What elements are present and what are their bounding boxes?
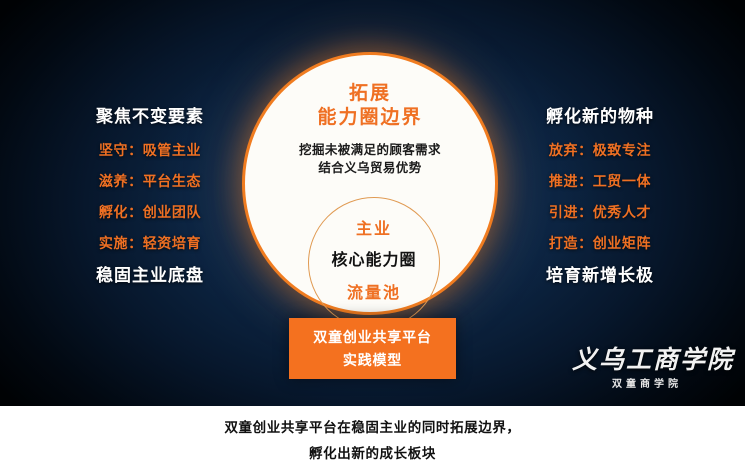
outer-ellipse-title-line2: 能力圈边界 (245, 106, 495, 130)
left-column-item-4: 实施：轻资培育 (50, 236, 250, 250)
model-label-line1: 双童创业共享平台 (313, 330, 431, 344)
left-column-item-1: 坚守：吸管主业 (50, 143, 250, 157)
outer-ellipse-subtitle: 挖掘未被满足的顾客需求 结合义乌贸易优势 (245, 142, 495, 178)
inner-ellipse-line3: 流量池 (291, 286, 457, 302)
outer-ellipse-title-line1: 拓展 (245, 82, 495, 106)
left-column-heading: 聚焦不变要素 (50, 108, 250, 125)
inner-ellipse-line2: 核心能力圈 (291, 253, 457, 269)
inner-core-ellipse: 主业 核心能力圈 流量池 (308, 197, 440, 329)
model-label-line2: 实践模型 (343, 353, 402, 367)
right-text-column: 孵化新的物种 放弃：极致专注 推进：工贸一体 引进：优秀人才 打造：创业矩阵 培… (500, 108, 700, 284)
figure-caption-line2: 孵化出新的成长板块 (309, 447, 436, 461)
figure-caption: 双童创业共享平台在稳固主业的同时拓展边界， 孵化出新的成长板块 (0, 406, 745, 475)
left-text-column: 聚焦不变要素 坚守：吸管主业 滋养：平台生态 孵化：创业团队 实施：轻资培育 稳… (50, 108, 250, 284)
outer-ellipse-sub-line2: 结合义乌贸易优势 (245, 160, 495, 178)
model-label-box: 双童创业共享平台 实践模型 (289, 318, 456, 379)
left-column-item-3: 孵化：创业团队 (50, 205, 250, 219)
left-column-item-2: 滋养：平台生态 (50, 174, 250, 188)
logo-wordmark: 义乌工商学院 (572, 348, 722, 373)
diagram-artwork-panel: 聚焦不变要素 坚守：吸管主业 滋养：平台生态 孵化：创业团队 实施：轻资培育 稳… (0, 0, 745, 406)
logo-subtitle: 双童商学院 (572, 380, 722, 390)
right-column-footer: 培育新增长极 (500, 267, 700, 284)
outer-ellipse-sub-line1: 挖掘未被满足的顾客需求 (245, 142, 495, 160)
right-column-item-1: 放弃：极致专注 (500, 143, 700, 157)
right-column-item-2: 推进：工贸一体 (500, 174, 700, 188)
right-column-heading: 孵化新的物种 (500, 108, 700, 125)
right-column-item-4: 打造：创业矩阵 (500, 236, 700, 250)
left-column-footer: 稳固主业底盘 (50, 267, 250, 284)
slide-container: 聚焦不变要素 坚守：吸管主业 滋养：平台生态 孵化：创业团队 实施：轻资培育 稳… (0, 0, 745, 475)
institution-logo: 义乌工商学院 双童商学院 (572, 348, 722, 390)
right-column-item-3: 引进：优秀人才 (500, 205, 700, 219)
inner-ellipse-line1: 主业 (291, 222, 457, 238)
outer-capability-ellipse: 拓展 能力圈边界 挖掘未被满足的顾客需求 结合义乌贸易优势 主业 核心能力圈 流… (245, 55, 495, 312)
outer-ellipse-title: 拓展 能力圈边界 (245, 82, 495, 131)
figure-caption-line1: 双童创业共享平台在稳固主业的同时拓展边界， (224, 421, 520, 435)
